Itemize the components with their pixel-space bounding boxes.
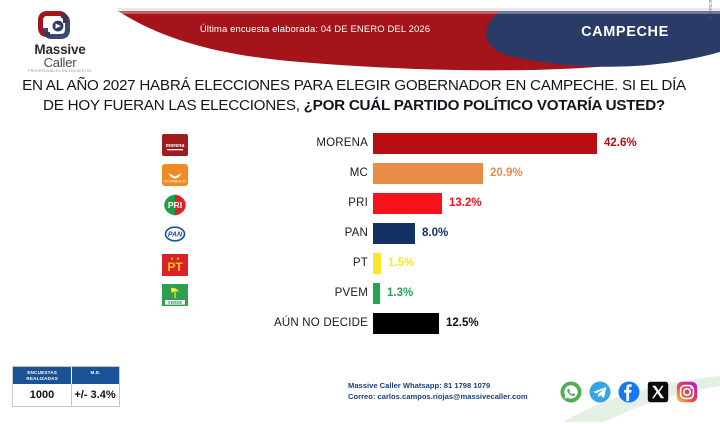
contact-whatsapp: Massive Caller Whatsapp: 81 1798 1079: [348, 381, 528, 392]
question-line-2-bold: ¿POR CUÁL PARTIDO POLÍTICO VOTARÍA USTED…: [304, 97, 665, 114]
whatsapp-icon[interactable]: [560, 381, 582, 403]
chart-row-label: PT: [208, 250, 368, 276]
chart-bar-value: 1.3%: [387, 280, 413, 306]
chart-bar-value: 12.5%: [446, 310, 479, 336]
chart-bar-value: 42.6%: [604, 130, 637, 156]
question-line-1: EN AL AÑO 2027 HABRÁ ELECCIONES PARA ELE…: [22, 77, 686, 94]
chart-bar: [373, 313, 439, 334]
mc-logo: MOVIMIENTO: [159, 162, 191, 188]
sample-table-value-row: 1000 +/- 3.4%: [13, 384, 119, 406]
svg-text:PAN: PAN: [168, 232, 183, 239]
svg-text:VERDE: VERDE: [168, 300, 183, 305]
pt-logo: PT: [159, 252, 191, 278]
pan-logo: PAN: [159, 222, 191, 248]
instagram-icon[interactable]: [676, 381, 698, 403]
copyright-line-2: Se autoriza la reproducción al hacer ref…: [706, 0, 712, 62]
sample-header-surveys: ENCUESTAS REALIZADAS: [13, 367, 72, 384]
chart-row: PTPT1.5%: [0, 250, 720, 280]
svg-text:PT: PT: [167, 260, 183, 274]
chart-row-label: PVEM: [208, 280, 368, 306]
copyright-line-1: D.R. (c) MASSIVE CALLER SA DE C.V. 2026: [713, 0, 719, 62]
chart-bar: [373, 253, 381, 274]
svg-text:PRI: PRI: [168, 200, 182, 210]
chart-row-label: PAN: [208, 220, 368, 246]
facebook-icon[interactable]: [618, 381, 640, 403]
poll-infographic: Última encuesta elaborada: 04 DE ENERO D…: [0, 0, 720, 424]
chart-row: morenaMORENA42.6%: [0, 130, 720, 160]
chart-bar-value: 13.2%: [449, 190, 482, 216]
sample-header-margin: M.E.: [72, 367, 119, 384]
social-links: [560, 381, 698, 403]
chart-bar-value: 1.5%: [388, 250, 414, 276]
chart-bar: [373, 193, 442, 214]
morena-logo: morena: [159, 132, 191, 158]
svg-text:morena: morena: [166, 143, 185, 149]
chart-row-label: MORENA: [208, 130, 368, 156]
chart-bar: [373, 133, 597, 154]
chart-bar: [373, 283, 380, 304]
copyright-notice: D.R. (c) MASSIVE CALLER SA DE C.V. 2026 …: [706, 0, 719, 62]
state-name: CAMPECHE: [560, 24, 690, 40]
contact-info: Massive Caller Whatsapp: 81 1798 1079 Co…: [348, 381, 528, 402]
chart-row: VERDEPVEM1.3%: [0, 280, 720, 310]
chart-row-label: PRI: [208, 190, 368, 216]
svg-text:MOVIMIENTO: MOVIMIENTO: [164, 179, 186, 183]
sample-table-header-row: ENCUESTAS REALIZADAS M.E.: [13, 367, 119, 384]
chart-bar: [373, 223, 415, 244]
chart-row: PANPAN8.0%: [0, 220, 720, 250]
logo-text-caller: Caller: [8, 56, 112, 69]
chart-bar: [373, 163, 483, 184]
chart-bar-value: 20.9%: [490, 160, 523, 186]
contact-email: Correo: carlos.campos.riojas@massivecall…: [348, 392, 528, 403]
pri-logo: PRI: [159, 192, 191, 218]
chart-bar-value: 8.0%: [422, 220, 448, 246]
sample-value-surveys: 1000: [13, 384, 72, 406]
survey-date: Última encuesta elaborada: 04 DE ENERO D…: [150, 24, 480, 35]
massive-caller-logo: Massive Caller PROFESIONALES EN ENCUESTA…: [8, 8, 112, 70]
telegram-icon[interactable]: [589, 381, 611, 403]
pvem-logo: VERDE: [159, 282, 191, 308]
chart-row-label: MC: [208, 160, 368, 186]
logo-mark-icon: [37, 8, 83, 42]
question-line-2-plain: DE HOY FUERAN LAS ELECCIONES,: [43, 97, 304, 114]
poll-question: EN AL AÑO 2027 HABRÁ ELECCIONES PARA ELE…: [18, 76, 690, 116]
chart-row: PRIPRI13.2%: [0, 190, 720, 220]
logo-tagline: PROFESIONALES EN ENCUESTAS: [8, 69, 112, 73]
x-icon[interactable]: [647, 381, 669, 403]
sample-size-table: ENCUESTAS REALIZADAS M.E. 1000 +/- 3.4%: [12, 366, 120, 407]
sample-value-margin: +/- 3.4%: [72, 384, 118, 406]
chart-row: AÚN NO DECIDE12.5%: [0, 310, 720, 340]
chart-row-label: AÚN NO DECIDE: [208, 310, 368, 336]
chart-row: MOVIMIENTOMC20.9%: [0, 160, 720, 190]
results-bar-chart: morenaMORENA42.6%MOVIMIENTOMC20.9%PRIPRI…: [0, 130, 720, 345]
